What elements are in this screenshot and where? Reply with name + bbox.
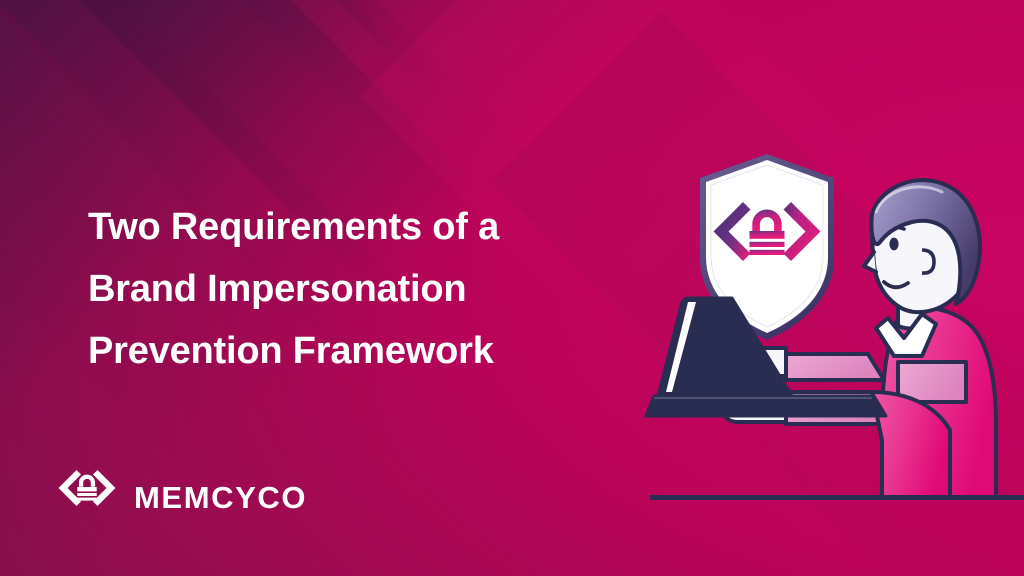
- promo-banner: Two Requirements of a Brand Impersonatio…: [0, 0, 1024, 576]
- page-title: Two Requirements of a Brand Impersonatio…: [88, 196, 628, 382]
- person-at-laptop-illustration: [636, 140, 1024, 540]
- memcyco-wordmark: MEMCYCO: [134, 482, 307, 513]
- desk-line: [650, 495, 1024, 500]
- memcyco-logo[interactable]: MEMCYCO: [56, 466, 307, 528]
- chevron-lock-icon: [56, 466, 118, 528]
